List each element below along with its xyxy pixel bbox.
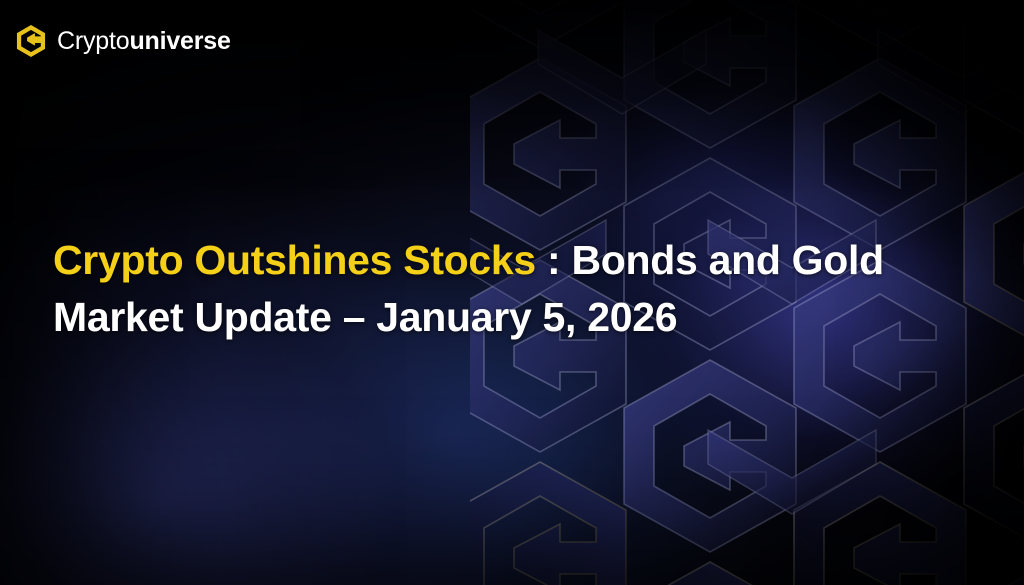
page-title: Crypto Outshines Stocks : Bonds and Gold… xyxy=(53,232,953,346)
logo-word-light: Crypto xyxy=(57,27,129,55)
site-logo[interactable]: Cryptouniverse xyxy=(14,24,231,58)
hero-banner: Cryptouniverse Crypto Outshines Stocks :… xyxy=(0,0,1024,585)
page-title-accent: Crypto Outshines Stocks xyxy=(53,237,536,283)
background-noise-texture xyxy=(0,0,300,150)
hexagon-c-monogram-icon xyxy=(14,24,48,58)
logo-word-bold: universe xyxy=(129,27,230,55)
logo-wordmark: Cryptouniverse xyxy=(57,29,231,54)
